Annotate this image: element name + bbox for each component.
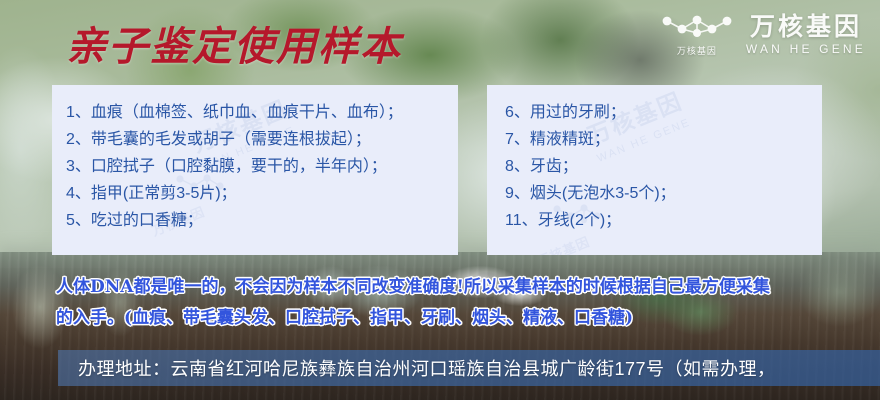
description-text: 人体DNA都是唯一的，不会因为样本不同改变准确度!所以采集样本的时候根据自己最方… — [56, 272, 846, 334]
address-text: 办理地址：云南省红河哈尼族彝族自治州河口瑶族自治县城广龄街177号（如需办理， — [58, 355, 776, 381]
brand-logo: 万核基因 万核基因 WAN HE GENE — [658, 12, 866, 58]
watermark-small-cn-right: 万核基因 — [533, 231, 592, 255]
list-item: 8、牙齿； — [505, 153, 822, 180]
sample-list-right: 6、用过的牙刷； 7、精液精斑； 8、牙齿； 9、烟头(无泡水3-5个)； 11… — [487, 85, 822, 234]
list-item: 4、指甲(正常剪3-5片)； — [66, 180, 458, 207]
list-item: 11、牙线(2个)； — [505, 207, 822, 234]
list-item: 6、用过的牙刷； — [505, 99, 822, 126]
list-item: 3、口腔拭子（口腔黏膜，要干的，半年内）； — [66, 153, 458, 180]
page-title: 亲子鉴定使用样本 — [66, 14, 402, 72]
brand-name-en: WAN HE GENE — [746, 42, 866, 56]
list-item: 7、精液精斑； — [505, 126, 822, 153]
description-line-2: 的入手。(血痕、带毛囊头发、口腔拭子、指甲、牙刷、烟头、精液、口香糖) — [56, 303, 846, 334]
poster-canvas: 亲子鉴定使用样本 — [0, 0, 880, 400]
sample-list-panel-right: 万核基因 WAN HE GENE 万核基因 — [487, 85, 822, 255]
molecule-icon: 万核基因 — [658, 12, 736, 58]
list-item: 2、带毛囊的毛发或胡子（需要连根拔起）； — [66, 126, 458, 153]
list-item: 9、烟头(无泡水3-5个)； — [505, 180, 822, 207]
sample-list-left: 1、血痕（血棉签、纸巾血、血痕干片、血布）； 2、带毛囊的毛发或胡子（需要连根拔… — [52, 85, 458, 234]
sample-list-panel-left: 万核基因 WAN HE GENE 万核基因 — [52, 85, 458, 255]
brand-wordmark: 万核基因 WAN HE GENE — [746, 14, 866, 56]
description-line-1: 人体DNA都是唯一的，不会因为样本不同改变准确度!所以采集样本的时候根据自己最方… — [56, 272, 846, 303]
brand-name-cn: 万核基因 — [750, 14, 862, 40]
list-item: 5、吃过的口香糖； — [66, 207, 458, 234]
address-bar: 办理地址：云南省红河哈尼族彝族自治州河口瑶族自治县城广龄街177号（如需办理， — [58, 350, 880, 386]
logo-mark-caption: 万核基因 — [677, 44, 717, 57]
list-item: 1、血痕（血棉签、纸巾血、血痕干片、血布）； — [66, 99, 458, 126]
